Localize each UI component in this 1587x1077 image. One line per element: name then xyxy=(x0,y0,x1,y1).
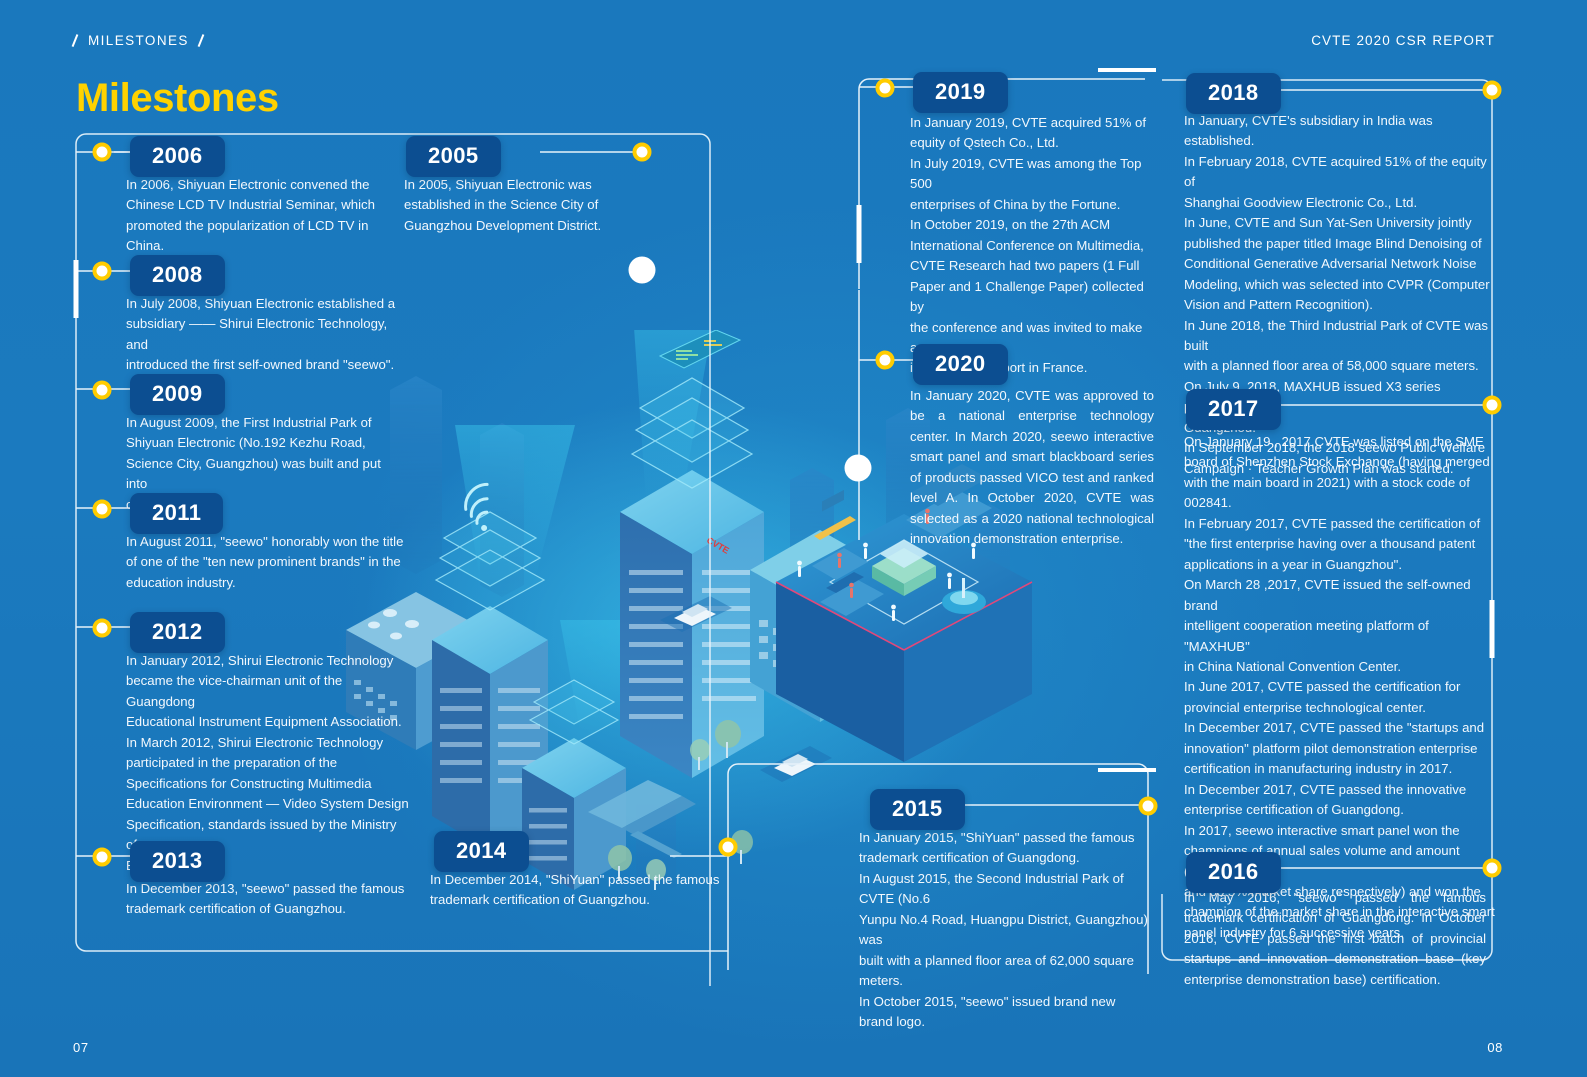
timeline-dot-2013[interactable] xyxy=(93,848,112,867)
slash-icon xyxy=(196,34,207,47)
year-badge-2014[interactable]: 2014 xyxy=(434,831,529,872)
entry-text-2005: In 2005, Shiyuan Electronic was establis… xyxy=(404,175,634,236)
timeline-dot-2020[interactable] xyxy=(876,351,895,370)
entry-text-2016: In May 2016, "seewo" passed the famous t… xyxy=(1184,888,1486,990)
year-badge-2020[interactable]: 2020 xyxy=(913,344,1008,385)
timeline-dot-2011[interactable] xyxy=(93,500,112,519)
entry-text-2020: In January 2020, CVTE was approved to be… xyxy=(910,386,1154,550)
year-badge-2016[interactable]: 2016 xyxy=(1186,852,1281,893)
breadcrumb: MILESTONES xyxy=(70,33,207,48)
timeline-node-marker xyxy=(845,455,872,482)
wifi-icon xyxy=(462,484,497,534)
timeline-dot-2017[interactable] xyxy=(1483,396,1502,415)
year-badge-2015[interactable]: 2015 xyxy=(870,789,965,830)
folio-right: 08 xyxy=(1487,1040,1503,1055)
timeline-dot-2015[interactable] xyxy=(1139,797,1158,816)
timeline-dot-2008[interactable] xyxy=(93,262,112,281)
year-badge-2012[interactable]: 2012 xyxy=(130,612,225,653)
building-logo-text: CVTE xyxy=(705,535,731,556)
timeline-dot-2018[interactable] xyxy=(1483,81,1502,100)
timeline-dot-2005[interactable] xyxy=(633,143,652,162)
year-badge-2005[interactable]: 2005 xyxy=(406,136,501,177)
car-icon xyxy=(660,596,732,632)
entry-text-2008: In July 2008, Shiyuan Electronic establi… xyxy=(126,294,411,376)
timeline-dot-2009[interactable] xyxy=(93,381,112,400)
entry-text-2014: In December 2014, "ShiYuan" passed the f… xyxy=(430,870,720,911)
timeline-dot-2014[interactable] xyxy=(719,838,738,857)
gutter-stub-top xyxy=(1098,68,1156,72)
page-title: Milestones xyxy=(76,76,279,121)
gutter-stub-bottom xyxy=(1098,768,1156,772)
timeline-dot-2016[interactable] xyxy=(1483,859,1502,878)
year-badge-2019[interactable]: 2019 xyxy=(913,72,1008,113)
year-badge-2009[interactable]: 2009 xyxy=(130,374,225,415)
timeline-node-marker xyxy=(629,257,656,284)
tree-icon xyxy=(608,720,753,890)
slash-icon xyxy=(70,34,81,47)
year-badge-2008[interactable]: 2008 xyxy=(130,255,225,296)
page-background: MILESTONES CVTE 2020 CSR REPORT Mileston… xyxy=(0,0,1587,1077)
entry-text-2013: In December 2013, "seewo" passed the fam… xyxy=(126,879,411,920)
timeline-dot-2019[interactable] xyxy=(876,79,895,98)
year-badge-2011[interactable]: 2011 xyxy=(130,493,223,534)
car-icon xyxy=(760,746,832,782)
timeline-dot-2012[interactable] xyxy=(93,619,112,638)
entry-text-2011: In August 2011, "seewo" honorably won th… xyxy=(126,532,406,593)
year-badge-2017[interactable]: 2017 xyxy=(1186,389,1281,430)
entry-text-2015: In January 2015, "ShiYuan" passed the fa… xyxy=(859,828,1149,1033)
report-title: CVTE 2020 CSR REPORT xyxy=(1311,33,1495,48)
timeline-dot-2006[interactable] xyxy=(93,143,112,162)
year-badge-2018[interactable]: 2018 xyxy=(1186,73,1281,114)
year-badge-2006[interactable]: 2006 xyxy=(130,136,225,177)
folio-left: 07 xyxy=(73,1040,89,1055)
entry-text-2006: In 2006, Shiyuan Electronic convened the… xyxy=(126,175,406,257)
breadcrumb-label: MILESTONES xyxy=(88,33,189,48)
entry-text-2019: In January 2019, CVTE acquired 51% of eq… xyxy=(910,113,1150,379)
year-badge-2013[interactable]: 2013 xyxy=(130,841,225,882)
